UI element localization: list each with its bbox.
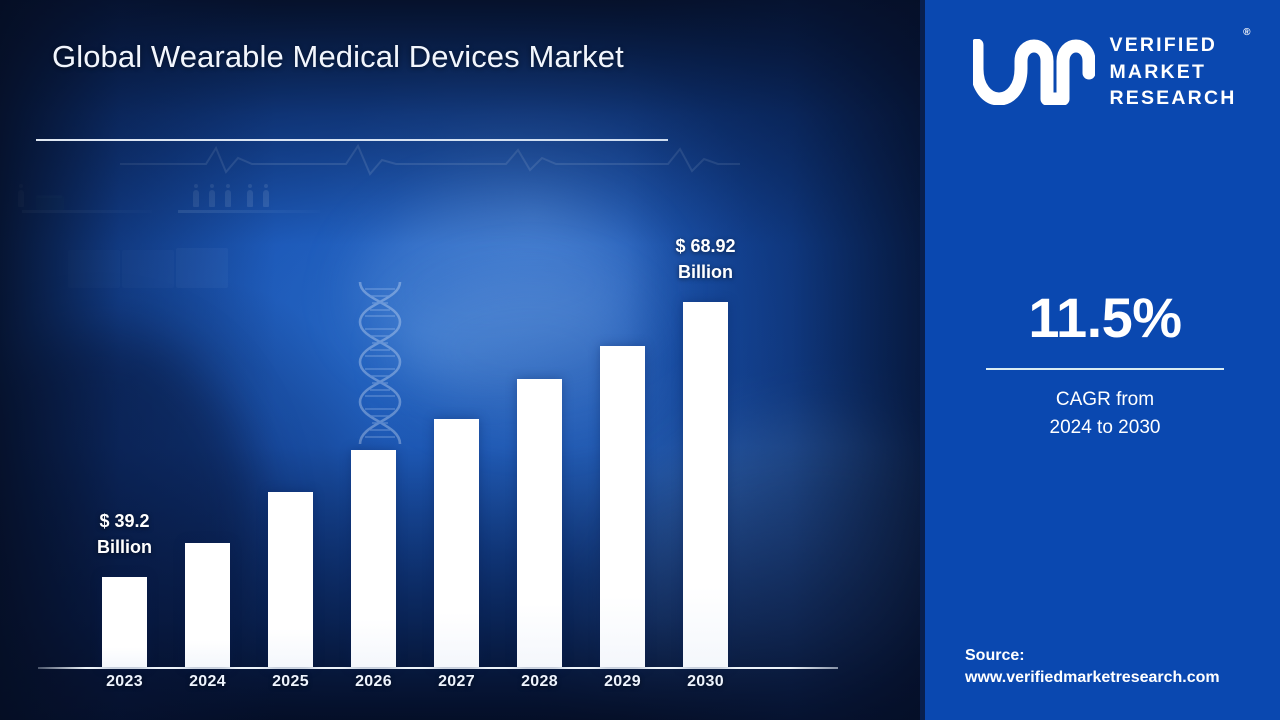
registered-trademark-icon: ®	[1243, 27, 1250, 38]
source-block: Source: www.verifiedmarketresearch.com	[965, 645, 1275, 690]
bar-2025	[268, 492, 313, 667]
source-label: Source:	[965, 645, 1275, 668]
value-label-unit-2023: Billion	[55, 535, 195, 561]
bar-2026	[351, 450, 396, 667]
cagr-block: 11.5% CAGR from 2024 to 2030	[925, 290, 1280, 441]
logo-wordmark: VERIFIED MARKET RESEARCH ®	[1109, 32, 1236, 112]
cagr-divider	[986, 368, 1224, 370]
logo-line-1: VERIFIED	[1109, 32, 1236, 59]
x-axis-label-2029: 2029	[583, 673, 663, 691]
bar-2029	[600, 346, 645, 667]
vmr-logo-mark-icon	[973, 39, 1095, 105]
brand-logo[interactable]: VERIFIED MARKET RESEARCH ®	[925, 28, 1280, 116]
chart-panel: Global Wearable Medical Devices Market 2…	[0, 0, 920, 720]
summary-panel: VERIFIED MARKET RESEARCH ® 11.5% CAGR fr…	[920, 0, 1280, 720]
bar-chart: 20232024202520262027202820292030 $ 39.2B…	[0, 0, 920, 720]
x-axis-label-2024: 2024	[168, 673, 248, 691]
x-axis-label-2026: 2026	[334, 673, 414, 691]
source-url[interactable]: www.verifiedmarketresearch.com	[965, 667, 1275, 690]
value-label-2030: $ 68.92Billion	[636, 234, 776, 285]
cagr-caption: CAGR from 2024 to 2030	[925, 386, 1280, 441]
logo-line-3: RESEARCH	[1109, 85, 1236, 112]
x-axis-label-2023: 2023	[85, 673, 165, 691]
value-label-amount-2023: $ 39.2	[55, 509, 195, 535]
value-label-unit-2030: Billion	[636, 260, 776, 286]
cagr-value: 11.5%	[925, 290, 1280, 346]
bar-2024	[185, 543, 230, 667]
x-axis-line	[38, 667, 838, 669]
cagr-caption-line-1: CAGR from	[925, 386, 1280, 414]
bar-2023	[102, 577, 147, 667]
value-label-amount-2030: $ 68.92	[636, 234, 776, 260]
cagr-caption-line-2: 2024 to 2030	[925, 414, 1280, 442]
logo-line-2: MARKET	[1109, 59, 1236, 86]
x-axis-label-2028: 2028	[500, 673, 580, 691]
value-label-2023: $ 39.2Billion	[55, 509, 195, 560]
infographic-root: Global Wearable Medical Devices Market 2…	[0, 0, 1280, 720]
bar-2028	[517, 379, 562, 667]
x-axis-label-2025: 2025	[251, 673, 331, 691]
bar-2030	[683, 302, 728, 667]
bar-2027	[434, 419, 479, 667]
x-axis-label-2027: 2027	[417, 673, 497, 691]
x-axis-label-2030: 2030	[666, 673, 746, 691]
